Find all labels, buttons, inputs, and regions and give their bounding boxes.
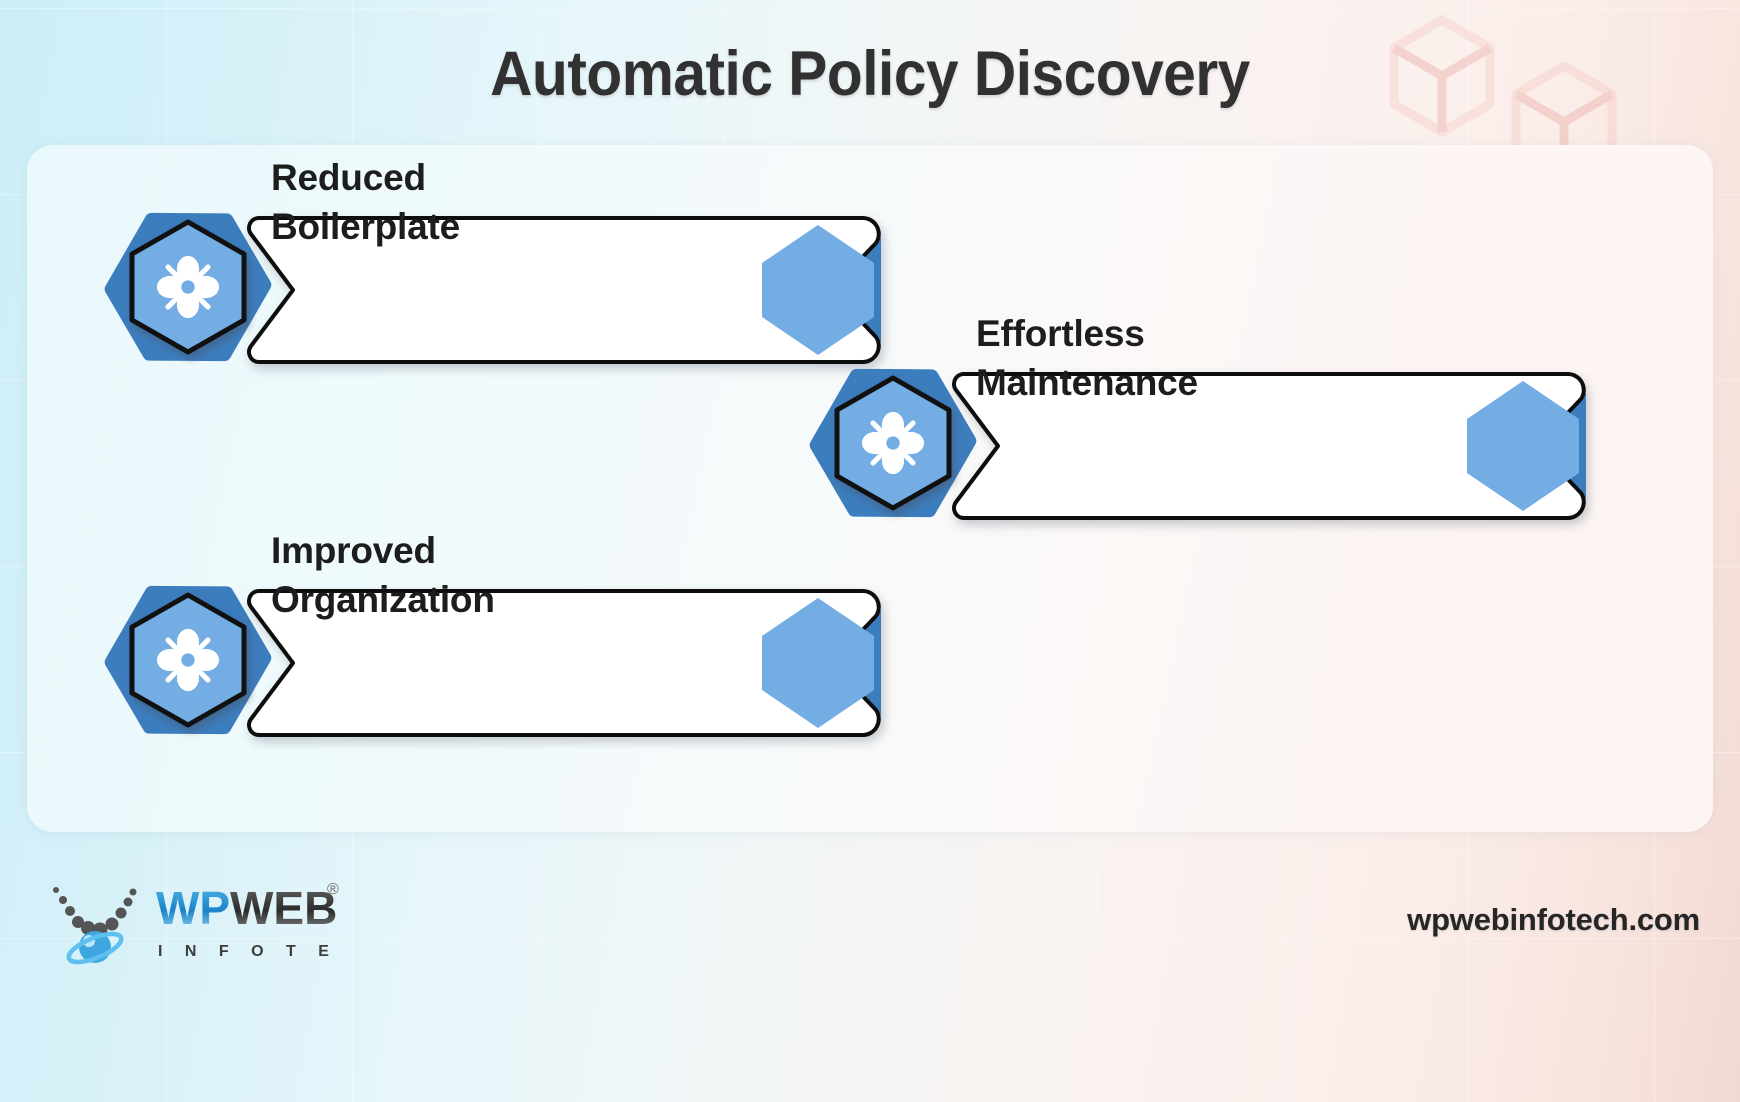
logo-dot-cluster: [53, 887, 137, 938]
wpweb-infotech-logo: WP WEB ® I N F O T E C H: [38, 872, 348, 972]
card-label: Effortless Maintenance: [976, 309, 1198, 407]
card-label: Reduced Boilerplate: [271, 153, 460, 251]
logo-wp-text: WP: [156, 882, 230, 934]
hexagon-icon-tile: [822, 372, 964, 514]
hexagon-icon-tile: [117, 589, 259, 731]
site-url[interactable]: wpwebinfotech.com: [1407, 902, 1700, 938]
logo-infotech-text: I N F O T E C H: [158, 943, 348, 960]
hexagon-icon-tile: [117, 216, 259, 358]
logo-registered-mark: ®: [327, 881, 339, 898]
page-title: Automatic Policy Discovery: [61, 38, 1679, 110]
logo-web-text: WEB: [230, 882, 337, 934]
logo-planet-icon: [65, 928, 124, 968]
card-label: Improved Organization: [271, 526, 495, 624]
